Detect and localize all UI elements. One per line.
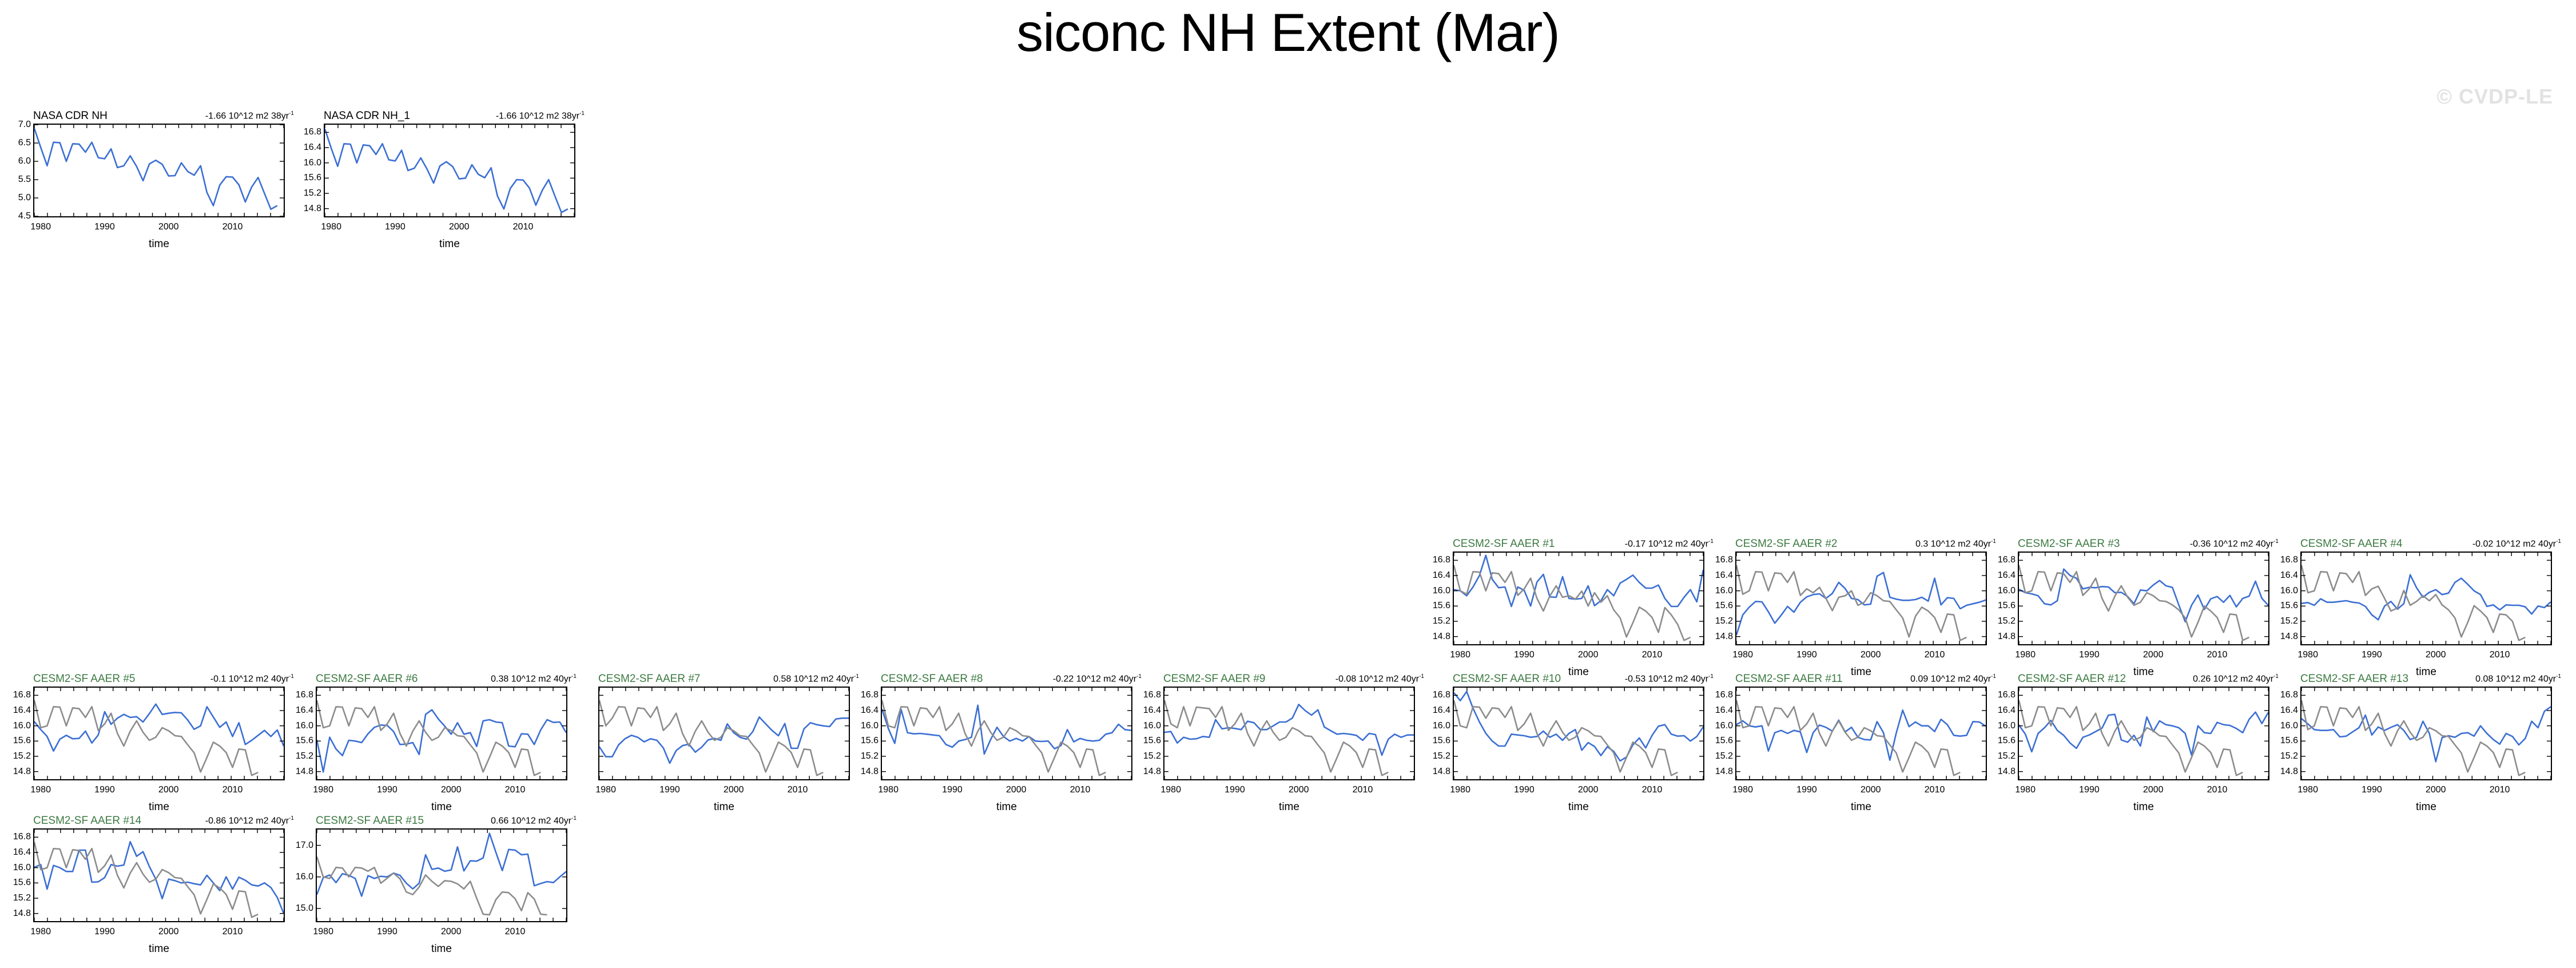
plot-area: [316, 687, 567, 780]
x-tick-label: 1990: [94, 927, 115, 937]
x-axis-labels: 1980199020002010: [316, 785, 567, 799]
x-axis-title: time: [316, 943, 567, 955]
y-tick-label: 16.4: [2280, 705, 2298, 716]
x-tick-label: 2000: [1578, 650, 1599, 660]
y-tick-label: 14.8: [1433, 767, 1450, 777]
y-tick-label: 14.8: [304, 204, 321, 214]
x-tick-label: 1980: [1450, 650, 1470, 660]
x-tick-label: 2000: [449, 222, 470, 232]
series-line-observation: [1454, 565, 1691, 640]
y-tick-label: 15.2: [1433, 751, 1450, 761]
x-tick-label: 2010: [1642, 650, 1663, 660]
panel-trend-label: -0.08 10^12 m2 40yr-1: [1335, 673, 1424, 684]
y-tick-label: 15.2: [296, 751, 313, 761]
series-canvas: [34, 688, 284, 779]
x-tick-label: 1980: [2297, 785, 2318, 795]
x-axis-labels: 1980199020002010: [1453, 650, 1704, 664]
x-tick-label: 1980: [321, 222, 341, 232]
y-tick-label: 15.6: [1998, 601, 2016, 611]
chart-panel: CESM2-SF AAER #5-0.1 10^12 m2 40yr-114.8…: [8, 673, 299, 815]
x-tick-label: 1990: [94, 222, 115, 232]
y-tick-label: 14.8: [861, 767, 878, 777]
chart-panel: CESM2-SF AAER #20.3 10^12 m2 40yr-114.81…: [1710, 538, 2001, 680]
panel-trend-label: 0.38 10^12 m2 40yr-1: [491, 673, 577, 684]
y-tick-label: 16.0: [1715, 586, 1733, 596]
panel-title: NASA CDR NH: [33, 110, 108, 122]
y-tick-label: 16.4: [1998, 705, 2016, 716]
x-tick-label: 1990: [659, 785, 680, 795]
chart-panel: CESM2-SF AAER #10-0.53 10^12 m2 40yr-114…: [1428, 673, 1718, 815]
plot-area: [1163, 687, 1415, 780]
x-axis-title: time: [33, 238, 285, 251]
y-tick-label: 16.4: [1715, 705, 1733, 716]
plot-area: [598, 687, 850, 780]
panel-trend-label: -0.36 10^12 m2 40yr-1: [2190, 538, 2279, 549]
x-tick-label: 1990: [385, 222, 406, 232]
x-tick-label: 2010: [222, 927, 243, 937]
series-line-observation: [1736, 700, 1960, 775]
series-canvas: [34, 830, 284, 921]
y-tick-label: 15.6: [2280, 736, 2298, 746]
panel-trend-label: 0.09 10^12 m2 40yr-1: [1910, 673, 1996, 684]
panel-title: CESM2-SF AAER #5: [33, 673, 135, 685]
chart-panel: CESM2-SF AAER #120.26 10^12 m2 40yr-114.…: [1993, 673, 2283, 815]
x-tick-label: 2010: [505, 927, 526, 937]
y-tick-label: 15.2: [1998, 751, 2016, 761]
x-tick-label: 1990: [377, 927, 397, 937]
panel-title: CESM2-SF AAER #4: [2300, 538, 2402, 550]
plot-area: [881, 687, 1132, 780]
y-tick-label: 16.0: [2280, 586, 2298, 596]
x-tick-label: 2000: [723, 785, 744, 795]
x-tick-label: 2010: [1642, 785, 1663, 795]
x-axis-labels: 1980199020002010: [1735, 785, 1987, 799]
x-tick-label: 2000: [1861, 650, 1881, 660]
chart-panel: CESM2-SF AAER #110.09 10^12 m2 40yr-114.…: [1710, 673, 2001, 815]
y-tick-label: 15.2: [861, 751, 878, 761]
x-tick-label: 1990: [1514, 650, 1535, 660]
y-tick-label: 15.2: [13, 893, 31, 903]
x-axis-labels: 1980199020002010: [324, 222, 575, 236]
x-tick-label: 1990: [1225, 785, 1245, 795]
panel-title: CESM2-SF AAER #10: [1453, 673, 1561, 685]
series-line-model: [1454, 556, 1703, 606]
y-tick-label: 6.0: [18, 156, 31, 166]
panel-trend-label: 0.08 10^12 m2 40yr-1: [2475, 673, 2561, 684]
panel-trend-label: -0.02 10^12 m2 40yr-1: [2472, 538, 2561, 549]
y-tick-label: 16.4: [1143, 705, 1161, 716]
plot-area: [324, 124, 575, 217]
plot-area: [2300, 552, 2552, 645]
x-tick-label: 2000: [1006, 785, 1027, 795]
y-tick-label: 15.6: [1715, 601, 1733, 611]
x-tick-label: 2000: [2143, 650, 2164, 660]
y-tick-label: 16.8: [2280, 690, 2298, 700]
x-axis-labels: 1980199020002010: [33, 927, 285, 941]
x-axis-labels: 1980199020002010: [33, 785, 285, 799]
x-axis-title: time: [33, 943, 285, 955]
x-axis-labels: 1980199020002010: [2018, 650, 2269, 664]
y-tick-label: 16.8: [296, 690, 313, 700]
y-tick-label: 14.8: [1998, 632, 2016, 642]
y-tick-label: 16.4: [1433, 570, 1450, 581]
plot-area: [1735, 552, 1987, 645]
series-line-model: [317, 710, 566, 772]
x-tick-label: 2010: [222, 222, 243, 232]
x-axis-title: time: [1735, 801, 1987, 814]
x-tick-label: 2010: [1925, 650, 1945, 660]
y-tick-label: 15.2: [2280, 616, 2298, 626]
y-tick-label: 15.0: [296, 903, 313, 914]
y-tick-label: 15.2: [1998, 616, 2016, 626]
x-tick-label: 1980: [878, 785, 899, 795]
series-line-model: [1164, 704, 1414, 755]
x-axis-title: time: [2018, 801, 2269, 814]
y-tick-label: 16.8: [861, 690, 878, 700]
y-tick-label: 15.6: [13, 878, 31, 888]
plot-area: [316, 828, 567, 922]
series-canvas: [882, 688, 1131, 779]
y-tick-label: 15.6: [1143, 736, 1161, 746]
x-axis-labels: 1980199020002010: [33, 222, 285, 236]
y-tick-label: 16.0: [296, 872, 313, 882]
series-canvas: [2019, 553, 2268, 644]
series-canvas: [1164, 688, 1414, 779]
panel-title: CESM2-SF AAER #2: [1735, 538, 1837, 550]
y-tick-label: 14.8: [1715, 767, 1733, 777]
chart-panel: CESM2-SF AAER #60.38 10^12 m2 40yr-114.8…: [291, 673, 581, 815]
x-axis-title: time: [33, 801, 285, 814]
y-tick-label: 16.0: [13, 721, 31, 731]
cvdp-le-watermark: © CVDP-LE: [2436, 85, 2553, 109]
x-tick-label: 2000: [2426, 650, 2446, 660]
chart-panel: CESM2-SF AAER #4-0.02 10^12 m2 40yr-114.…: [2275, 538, 2566, 680]
plot-area: [1453, 552, 1704, 645]
panel-trend-label: -1.66 10^12 m2 38yr-1: [496, 110, 585, 121]
panel-title: CESM2-SF AAER #6: [316, 673, 418, 685]
series-line-observation: [317, 856, 547, 915]
x-tick-label: 1980: [595, 785, 616, 795]
series-line-model: [317, 834, 566, 896]
x-tick-label: 2010: [1070, 785, 1091, 795]
panel-trend-label: -0.17 10^12 m2 40yr-1: [1625, 538, 1714, 549]
series-canvas: [317, 830, 566, 921]
x-axis-labels: 1980199020002010: [598, 785, 850, 799]
page-title: siconc NH Extent (Mar): [0, 5, 2576, 61]
x-tick-label: 1990: [1796, 650, 1817, 660]
y-tick-label: 16.4: [861, 705, 878, 716]
x-tick-label: 1990: [2079, 650, 2100, 660]
x-axis-title: time: [881, 801, 1132, 814]
y-tick-label: 15.6: [296, 736, 313, 746]
y-tick-label: 15.2: [1433, 616, 1450, 626]
x-tick-label: 2000: [441, 785, 462, 795]
x-axis-title: time: [1163, 801, 1415, 814]
series-line-observation: [599, 700, 823, 775]
x-tick-label: 2010: [2207, 785, 2228, 795]
chart-panel: NASA CDR NH_1-1.66 10^12 m2 38yr-114.815…: [299, 110, 589, 252]
x-tick-label: 2000: [1861, 785, 1881, 795]
panel-title: CESM2-SF AAER #14: [33, 815, 141, 827]
y-tick-label: 15.6: [13, 736, 31, 746]
y-tick-label: 15.6: [861, 736, 878, 746]
series-line-observation: [325, 129, 568, 212]
series-line-observation: [34, 700, 258, 775]
x-axis-labels: 1980199020002010: [1735, 650, 1987, 664]
series-canvas: [2301, 553, 2551, 644]
panel-trend-label: -1.66 10^12 m2 38yr-1: [205, 110, 294, 121]
panel-title: CESM2-SF AAER #15: [316, 815, 424, 827]
x-tick-label: 1980: [1732, 785, 1753, 795]
chart-panel: CESM2-SF AAER #8-0.22 10^12 m2 40yr-114.…: [856, 673, 1146, 815]
y-tick-label: 14.8: [1143, 767, 1161, 777]
y-tick-label: 15.2: [13, 751, 31, 761]
x-tick-label: 2000: [441, 927, 462, 937]
chart-panel: CESM2-SF AAER #9-0.08 10^12 m2 40yr-114.…: [1138, 673, 1429, 815]
x-axis-labels: 1980199020002010: [316, 927, 567, 941]
x-tick-label: 1980: [1450, 785, 1470, 795]
panel-trend-label: -0.53 10^12 m2 40yr-1: [1625, 673, 1714, 684]
y-tick-label: 16.4: [1998, 570, 2016, 581]
panel-title: CESM2-SF AAER #7: [598, 673, 700, 685]
y-tick-label: 6.5: [18, 138, 31, 148]
chart-panel: CESM2-SF AAER #130.08 10^12 m2 40yr-114.…: [2275, 673, 2566, 815]
y-tick-label: 16.8: [13, 832, 31, 842]
y-tick-label: 16.0: [1715, 721, 1733, 731]
y-tick-label: 15.6: [1715, 736, 1733, 746]
x-tick-label: 1990: [2362, 785, 2382, 795]
panel-title: CESM2-SF AAER #13: [2300, 673, 2408, 685]
panel-title: CESM2-SF AAER #12: [2018, 673, 2126, 685]
x-tick-label: 1990: [1796, 785, 1817, 795]
y-tick-label: 15.6: [1433, 601, 1450, 611]
y-tick-label: 14.8: [2280, 632, 2298, 642]
x-tick-label: 1980: [30, 785, 51, 795]
x-tick-label: 2010: [1925, 785, 1945, 795]
x-axis-labels: 1980199020002010: [1163, 785, 1415, 799]
series-line-model: [2301, 575, 2551, 620]
x-tick-label: 1980: [2297, 650, 2318, 660]
y-tick-label: 15.6: [1433, 736, 1450, 746]
x-tick-label: 1990: [2079, 785, 2100, 795]
y-tick-label: 15.2: [1143, 751, 1161, 761]
panel-title: CESM2-SF AAER #9: [1163, 673, 1265, 685]
y-tick-label: 5.0: [18, 193, 31, 203]
y-tick-label: 16.0: [1433, 586, 1450, 596]
x-axis-labels: 1980199020002010: [1453, 785, 1704, 799]
series-canvas: [2019, 688, 2268, 779]
x-tick-label: 2010: [1353, 785, 1373, 795]
plot-area: [2018, 552, 2269, 645]
chart-panel: CESM2-SF AAER #150.66 10^12 m2 40yr-115.…: [291, 815, 581, 957]
x-tick-label: 2010: [513, 222, 534, 232]
y-tick-label: 14.8: [1715, 632, 1733, 642]
series-line-observation: [34, 128, 277, 209]
x-tick-label: 1990: [1514, 785, 1535, 795]
x-axis-title: time: [2300, 801, 2552, 814]
y-tick-label: 14.8: [1998, 767, 2016, 777]
panel-title: CESM2-SF AAER #11: [1735, 673, 1843, 685]
series-canvas: [599, 688, 849, 779]
y-tick-label: 14.8: [13, 767, 31, 777]
panel-title: CESM2-SF AAER #1: [1453, 538, 1555, 550]
panel-trend-label: -0.86 10^12 m2 40yr-1: [205, 815, 294, 826]
panel-title: CESM2-SF AAER #8: [881, 673, 983, 685]
x-tick-label: 2010: [505, 785, 526, 795]
x-tick-label: 2000: [2426, 785, 2446, 795]
plot-area: [33, 828, 285, 922]
y-tick-label: 16.8: [1998, 555, 2016, 565]
y-tick-label: 14.8: [296, 767, 313, 777]
series-canvas: [2301, 688, 2551, 779]
x-axis-labels: 1980199020002010: [2018, 785, 2269, 799]
y-tick-label: 16.4: [1715, 570, 1733, 581]
x-tick-label: 1980: [2015, 785, 2036, 795]
series-canvas: [1454, 688, 1703, 779]
x-tick-label: 2000: [158, 222, 179, 232]
y-tick-label: 15.2: [2280, 751, 2298, 761]
y-tick-label: 16.0: [13, 863, 31, 873]
y-tick-label: 16.4: [304, 142, 321, 153]
y-tick-label: 16.4: [13, 847, 31, 858]
y-tick-label: 15.2: [304, 188, 321, 199]
series-canvas: [1454, 553, 1703, 644]
x-tick-label: 2010: [222, 785, 243, 795]
x-tick-label: 1980: [30, 222, 51, 232]
x-axis-labels: 1980199020002010: [2300, 650, 2552, 664]
x-tick-label: 2000: [1289, 785, 1309, 795]
plot-area: [33, 687, 285, 780]
plot-area: [33, 124, 285, 217]
y-tick-label: 4.5: [18, 211, 31, 221]
x-tick-label: 1990: [942, 785, 963, 795]
chart-panel: CESM2-SF AAER #70.58 10^12 m2 40yr-11980…: [573, 673, 864, 815]
series-canvas: [1736, 688, 1986, 779]
x-axis-labels: 1980199020002010: [881, 785, 1132, 799]
chart-panel: NASA CDR NH-1.66 10^12 m2 38yr-14.55.05.…: [8, 110, 299, 252]
y-tick-label: 16.4: [1433, 705, 1450, 716]
y-tick-label: 16.0: [1433, 721, 1450, 731]
x-tick-label: 2000: [1578, 785, 1599, 795]
x-tick-label: 1980: [313, 785, 333, 795]
plot-area: [2018, 687, 2269, 780]
y-tick-label: 16.8: [1715, 690, 1733, 700]
y-tick-label: 14.8: [13, 909, 31, 919]
panel-trend-label: -0.1 10^12 m2 40yr-1: [210, 673, 294, 684]
x-tick-label: 1980: [1732, 650, 1753, 660]
y-tick-label: 16.4: [2280, 570, 2298, 581]
y-tick-label: 16.0: [2280, 721, 2298, 731]
y-tick-label: 16.8: [304, 127, 321, 137]
chart-panel: CESM2-SF AAER #3-0.36 10^12 m2 40yr-114.…: [1993, 538, 2283, 680]
y-tick-label: 16.0: [1998, 586, 2016, 596]
x-axis-title: time: [598, 801, 850, 814]
panel-title: NASA CDR NH_1: [324, 110, 410, 122]
chart-panel: CESM2-SF AAER #14-0.86 10^12 m2 40yr-114…: [8, 815, 299, 957]
y-tick-label: 16.4: [296, 705, 313, 716]
y-tick-label: 16.8: [1433, 555, 1450, 565]
y-tick-label: 5.5: [18, 174, 31, 185]
series-canvas: [34, 125, 284, 216]
y-tick-label: 17.0: [296, 840, 313, 851]
y-tick-label: 16.8: [13, 690, 31, 700]
series-canvas: [325, 125, 574, 216]
y-tick-label: 15.6: [304, 173, 321, 183]
x-axis-title: time: [324, 238, 575, 251]
y-tick-label: 16.0: [1143, 721, 1161, 731]
plot-area: [1453, 687, 1704, 780]
y-tick-label: 14.8: [2280, 767, 2298, 777]
x-tick-label: 1980: [1160, 785, 1181, 795]
y-tick-label: 16.0: [304, 158, 321, 168]
x-axis-title: time: [316, 801, 567, 814]
x-axis-labels: 1980199020002010: [2300, 785, 2552, 799]
panel-trend-label: 0.3 10^12 m2 40yr-1: [1915, 538, 1996, 549]
y-tick-label: 16.8: [1433, 690, 1450, 700]
x-tick-label: 2010: [2490, 785, 2510, 795]
y-tick-label: 16.0: [1998, 721, 2016, 731]
x-tick-label: 2010: [2207, 650, 2228, 660]
x-tick-label: 2010: [2490, 650, 2510, 660]
plot-area: [1735, 687, 1987, 780]
panel-trend-label: 0.26 10^12 m2 40yr-1: [2193, 673, 2279, 684]
y-tick-label: 16.8: [1715, 555, 1733, 565]
y-tick-label: 15.2: [1715, 751, 1733, 761]
x-tick-label: 1980: [313, 927, 333, 937]
plot-area: [2300, 687, 2552, 780]
x-tick-label: 2000: [2143, 785, 2164, 795]
series-line-model: [1454, 692, 1703, 761]
chart-panel: CESM2-SF AAER #1-0.17 10^12 m2 40yr-114.…: [1428, 538, 1718, 680]
x-tick-label: 2000: [158, 785, 179, 795]
series-line-observation: [1736, 565, 1967, 640]
y-tick-label: 15.6: [2280, 601, 2298, 611]
x-tick-label: 1990: [377, 785, 397, 795]
panel-title: CESM2-SF AAER #3: [2018, 538, 2120, 550]
panel-trend-label: 0.58 10^12 m2 40yr-1: [773, 673, 859, 684]
x-tick-label: 2010: [788, 785, 808, 795]
series-canvas: [317, 688, 566, 779]
series-canvas: [1736, 553, 1986, 644]
y-tick-label: 14.8: [1433, 632, 1450, 642]
y-tick-label: 15.6: [1998, 736, 2016, 746]
y-tick-label: 16.0: [861, 721, 878, 731]
panel-trend-label: 0.66 10^12 m2 40yr-1: [491, 815, 577, 826]
x-axis-title: time: [1453, 801, 1704, 814]
y-tick-label: 16.0: [296, 721, 313, 731]
x-tick-label: 1990: [2362, 650, 2382, 660]
x-tick-label: 1990: [94, 785, 115, 795]
panel-trend-label: -0.22 10^12 m2 40yr-1: [1053, 673, 1142, 684]
y-tick-label: 16.8: [1143, 690, 1161, 700]
x-tick-label: 1980: [2015, 650, 2036, 660]
y-tick-label: 16.8: [2280, 555, 2298, 565]
y-tick-label: 7.0: [18, 120, 31, 130]
y-tick-label: 16.8: [1998, 690, 2016, 700]
x-tick-label: 1980: [30, 927, 51, 937]
x-tick-label: 2000: [158, 927, 179, 937]
y-tick-label: 15.2: [1715, 616, 1733, 626]
y-tick-label: 16.4: [13, 705, 31, 716]
